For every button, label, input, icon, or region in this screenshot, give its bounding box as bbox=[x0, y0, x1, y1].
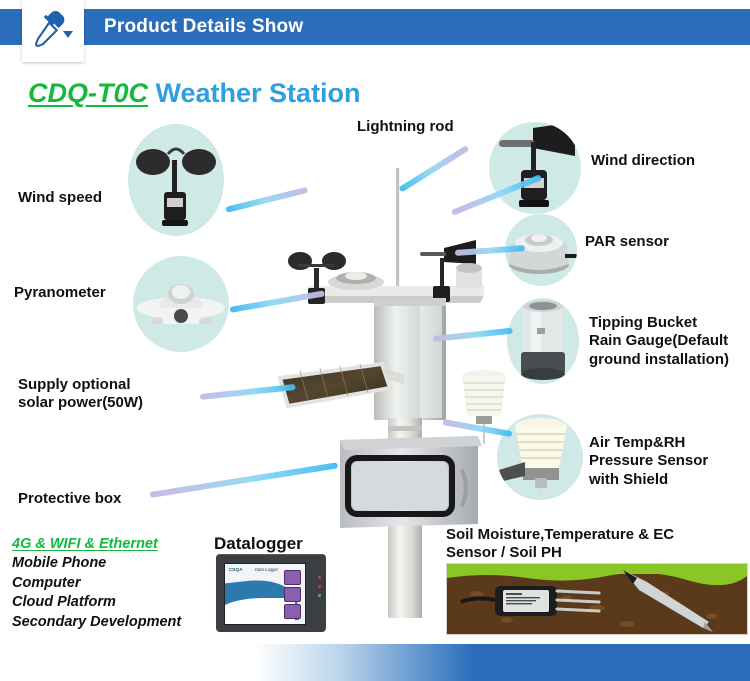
label-protective-box: Protective box bbox=[18, 490, 121, 508]
label-pyranometer: Pyranometer bbox=[14, 284, 106, 302]
photo-air-temp-shield bbox=[497, 414, 583, 500]
rain-gauge-graphic bbox=[507, 298, 579, 384]
label-wind-speed: Wind speed bbox=[18, 189, 102, 207]
product-name: Weather Station bbox=[156, 78, 361, 108]
datalogger-screen: CDQA Data Logger bbox=[224, 563, 306, 625]
datalogger-led-status bbox=[318, 585, 321, 588]
bottom-decoration-strip bbox=[0, 644, 750, 681]
datalogger-brand: CDQA bbox=[229, 567, 243, 572]
product-title: CDQ-T0C Weather Station bbox=[28, 78, 361, 109]
page-title: Product Details Show bbox=[104, 16, 303, 38]
wind-vane-graphic bbox=[489, 122, 581, 214]
datalogger-key-3[interactable] bbox=[284, 604, 301, 619]
datalogger-model: Data Logger bbox=[255, 567, 278, 572]
eyedropper-icon bbox=[30, 9, 76, 53]
datalogger-label: Datalogger bbox=[214, 534, 303, 554]
datalogger-led-power bbox=[318, 576, 321, 579]
label-air-temp: Air Temp&RH Pressure Sensor with Shield bbox=[589, 434, 708, 489]
connectivity-heading: 4G & WIFI & Ethernet bbox=[12, 536, 158, 552]
label-solar-power: Supply optional solar power(50W) bbox=[18, 376, 143, 413]
photo-rain-gauge bbox=[507, 298, 579, 384]
product-code: CDQ-T0C bbox=[28, 78, 148, 108]
pyranometer-graphic bbox=[133, 256, 229, 352]
radiation-shield-graphic bbox=[497, 414, 583, 500]
logo-card[interactable] bbox=[22, 0, 84, 62]
datalogger-key-1[interactable] bbox=[284, 570, 301, 585]
photo-wind-speed bbox=[128, 124, 224, 236]
soil-sensor-graphic bbox=[447, 564, 747, 634]
photo-pyranometer bbox=[133, 256, 229, 352]
label-par-sensor: PAR sensor bbox=[585, 233, 669, 251]
datalogger-key-2[interactable] bbox=[284, 587, 301, 602]
datalogger-led-link bbox=[318, 594, 321, 597]
label-lightning-rod: Lightning rod bbox=[357, 118, 454, 136]
photo-soil-sensor bbox=[446, 563, 748, 635]
photo-wind-direction bbox=[489, 122, 581, 214]
datalogger-device: CDQA Data Logger bbox=[216, 554, 326, 632]
connectivity-list: Mobile Phone Computer Cloud Platform Sec… bbox=[12, 554, 181, 632]
label-wind-direction: Wind direction bbox=[591, 152, 695, 170]
anemometer-graphic bbox=[128, 124, 224, 236]
label-rain-gauge: Tipping Bucket Rain Gauge(Default ground… bbox=[589, 314, 729, 369]
label-soil-sensor: Soil Moisture,Temperature & EC Sensor / … bbox=[446, 526, 674, 563]
